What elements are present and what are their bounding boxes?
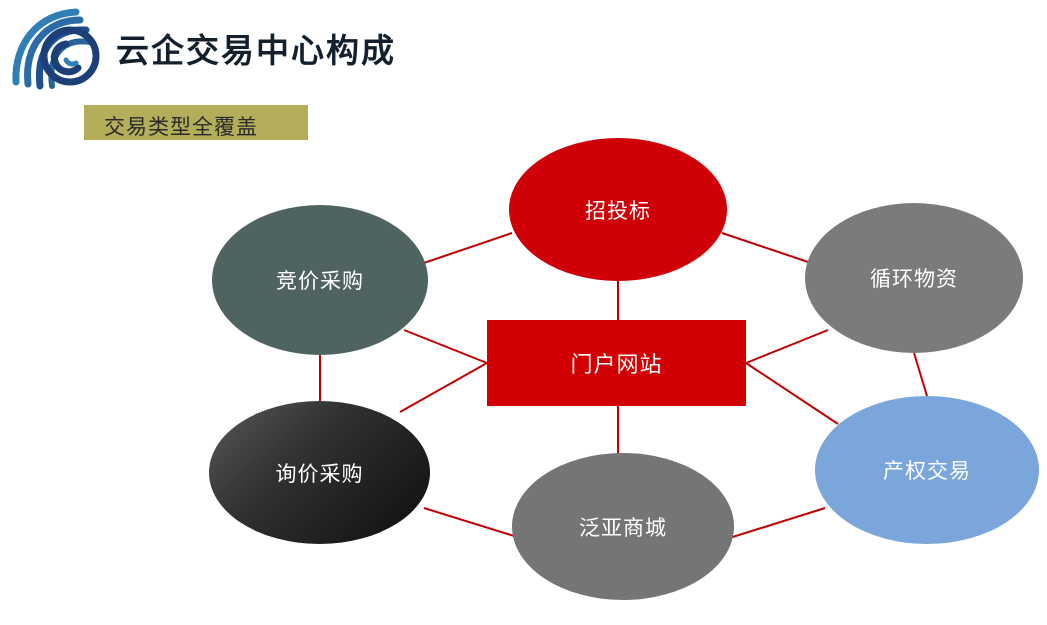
node-bidding[interactable]: 招投标 [509, 138, 727, 281]
connector-portal-equity [746, 363, 838, 424]
node-recycle[interactable]: 循环物资 [805, 203, 1023, 353]
connector-portal-recycle [746, 330, 828, 363]
transaction-center-diagram: 招投标 竞价采购 循环物资 询价采购 泛亚商城 产权交易 门户网站 [0, 0, 1047, 625]
node-inquiry[interactable]: 询价采购 [209, 401, 430, 544]
connector-portal-inquiry [400, 363, 487, 412]
node-portal-label: 门户网站 [570, 347, 662, 379]
slide-canvas: 云企交易中心构成 交易类型全覆盖 招投标 [0, 0, 1047, 625]
node-auction[interactable]: 竞价采购 [212, 205, 428, 355]
node-inquiry-label: 询价采购 [276, 458, 364, 488]
connector-recycle-equity [914, 353, 927, 396]
node-portal[interactable]: 门户网站 [487, 320, 746, 406]
connector-bidding-auction [415, 233, 512, 266]
connector-bidding-recycle [722, 233, 820, 266]
connector-portal-auction [404, 330, 487, 363]
node-mall-label: 泛亚商城 [579, 512, 667, 542]
node-equity[interactable]: 产权交易 [815, 396, 1039, 544]
node-equity-label: 产权交易 [883, 455, 971, 485]
node-auction-label: 竞价采购 [276, 265, 364, 295]
node-bidding-label: 招投标 [585, 195, 651, 225]
connector-mall-equity [723, 508, 825, 540]
node-recycle-label: 循环物资 [870, 263, 958, 293]
node-mall[interactable]: 泛亚商城 [512, 453, 734, 600]
